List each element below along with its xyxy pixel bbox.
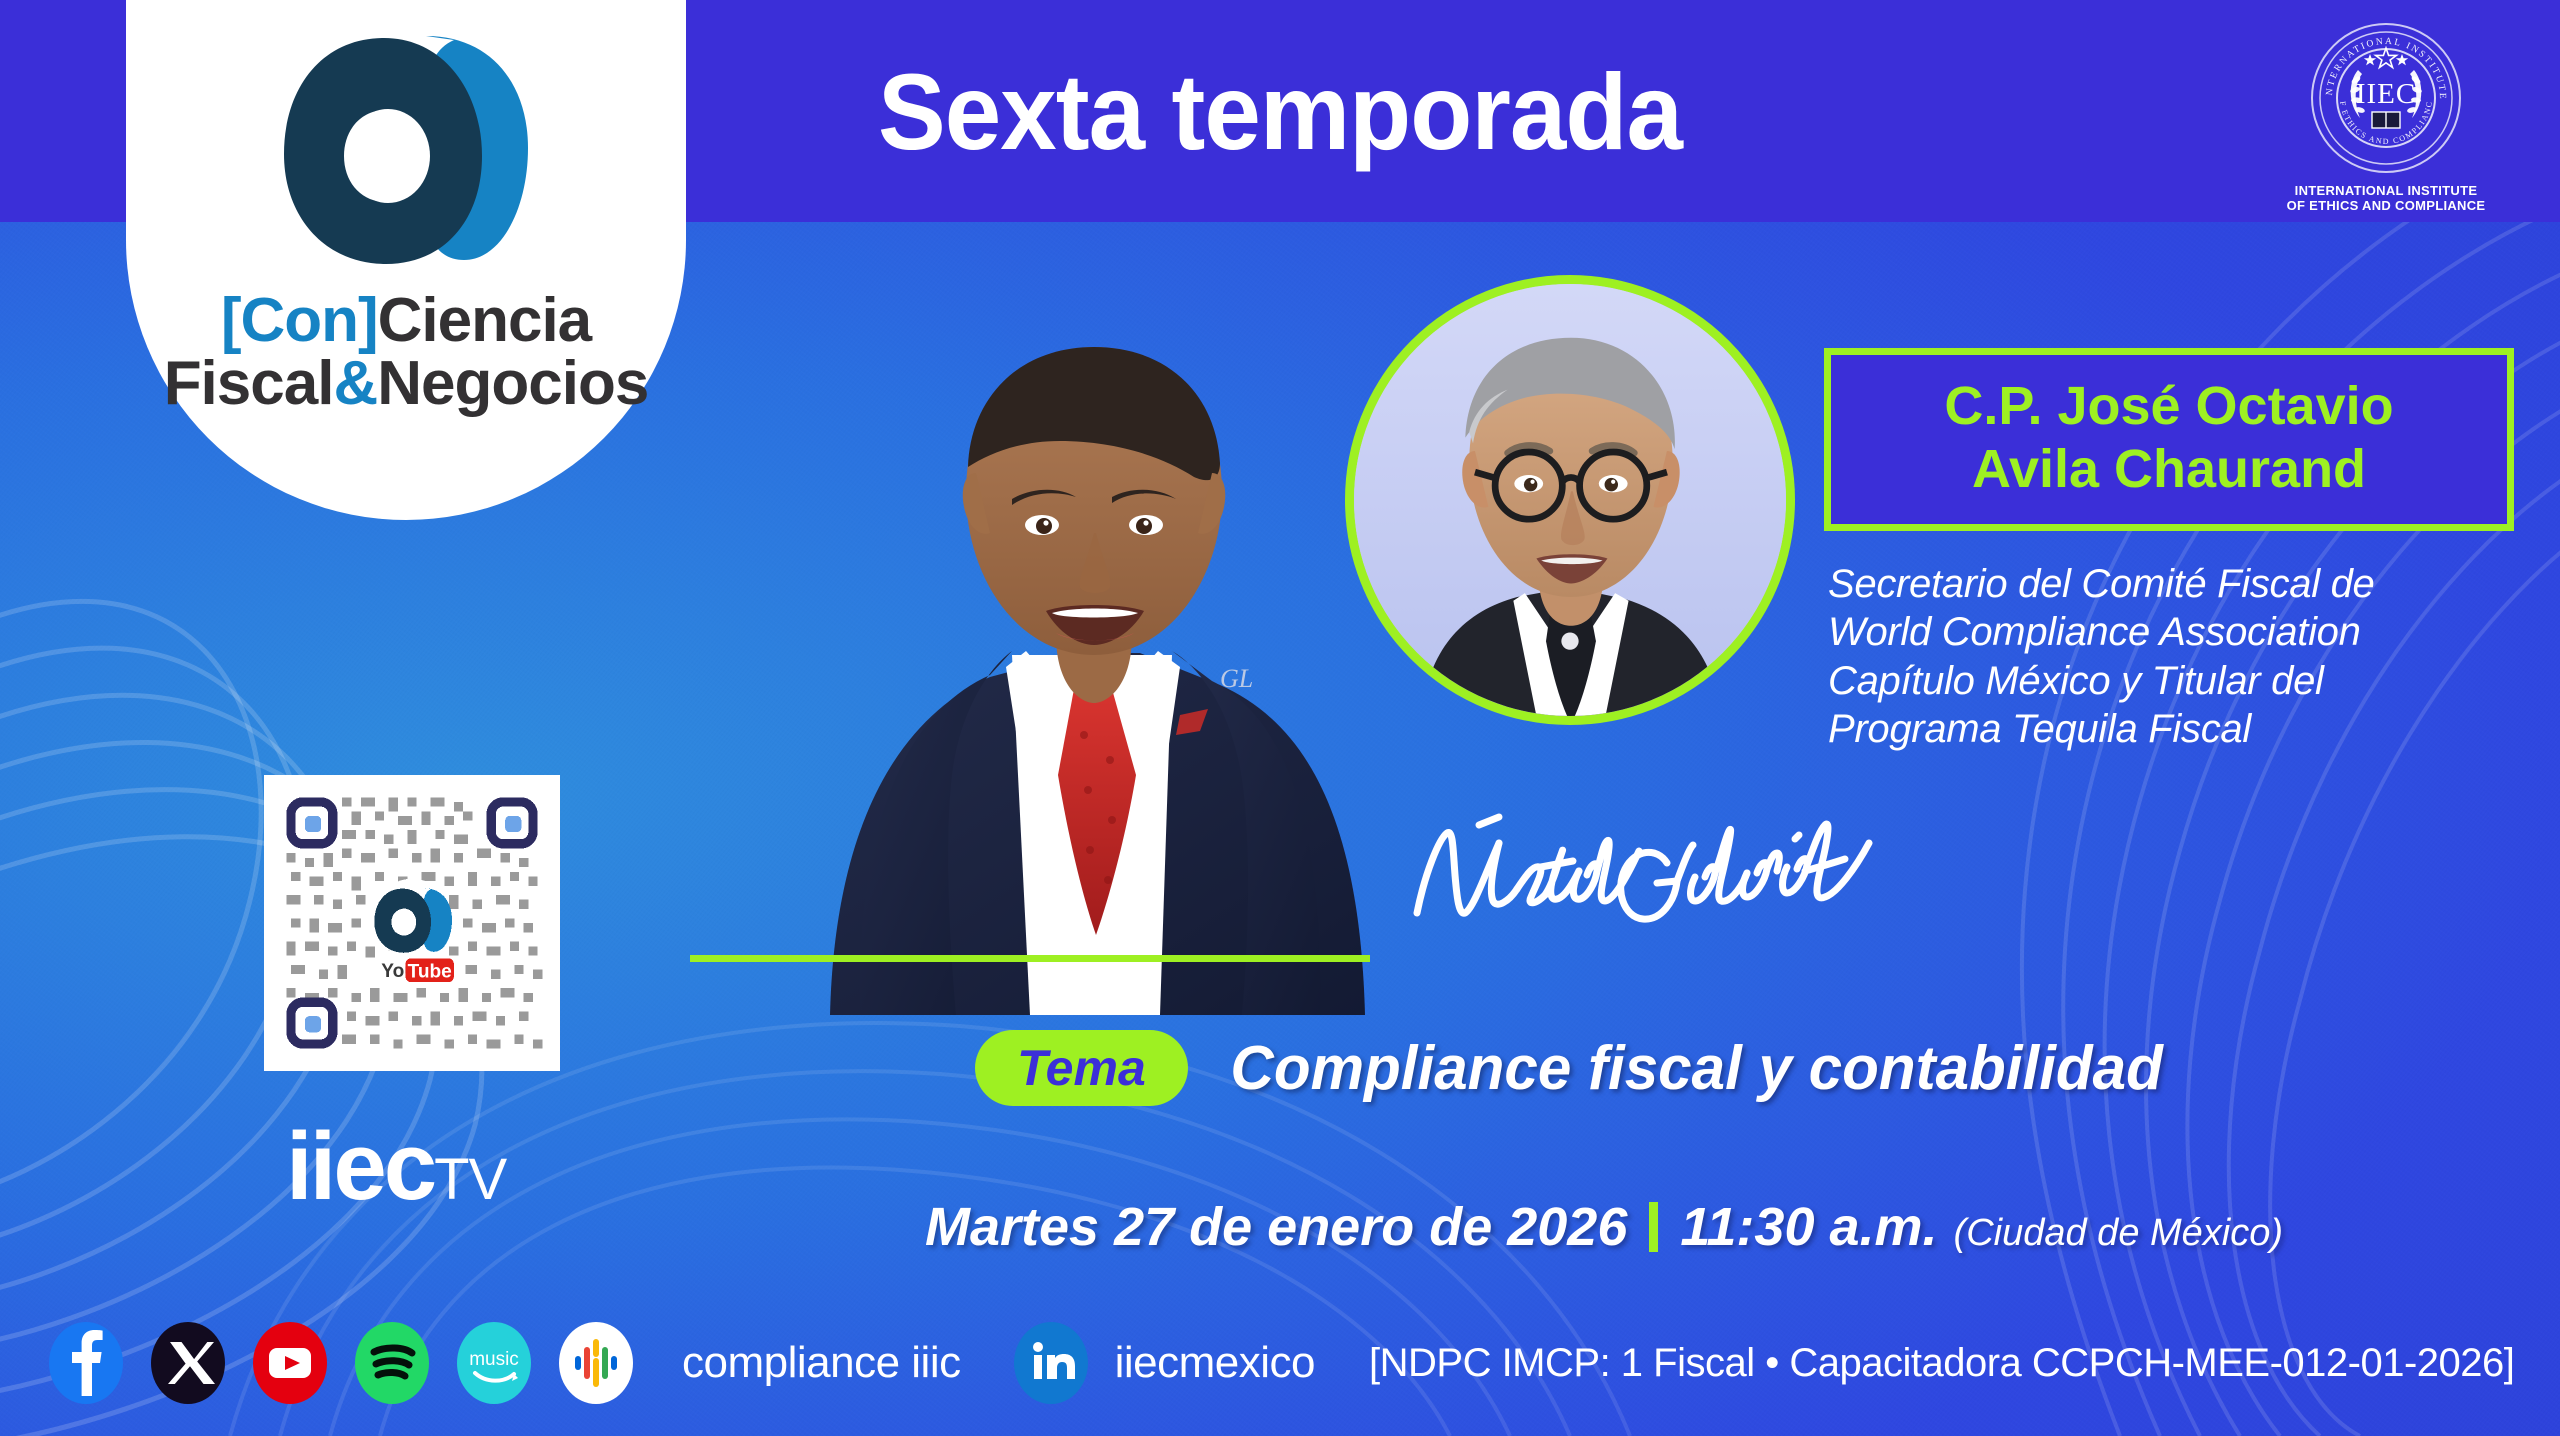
datetime-separator (1649, 1202, 1658, 1252)
amazon-music-icon[interactable]: music (456, 1321, 532, 1405)
brand-fiscal-text: Fiscal (164, 349, 334, 418)
event-date: Martes 27 de enero de 2026 (925, 1196, 1627, 1258)
event-datetime: Martes 27 de enero de 2026 11:30 a.m. (C… (925, 1196, 2283, 1258)
guest-photo (1345, 275, 1795, 725)
qr-code[interactable]: You Tube (264, 775, 560, 1071)
iiectv-logo: iiecTV (286, 1112, 506, 1222)
topic-row: Tema Compliance fiscal y contabilidad (975, 1030, 2177, 1106)
event-time: 11:30 a.m. (1680, 1196, 1937, 1258)
speaker-name-box: C.P. José Octavio Avila Chaurand (1824, 348, 2514, 531)
svg-text:IIEC: IIEC (2356, 78, 2416, 110)
brand-ciencia-text: Ciencia (378, 286, 592, 355)
credentials-line-2: World Compliance Association (1828, 608, 2528, 656)
svg-text:music: music (469, 1349, 519, 1370)
seal-caption-line-2: OF ETHICS AND COMPLIANCE (2286, 198, 2486, 213)
speaker-credentials: Secretario del Comité Fiscal de World Co… (1828, 560, 2528, 754)
brand-logo-line-1: [Con]Ciencia (221, 289, 591, 352)
x-twitter-icon[interactable] (150, 1321, 226, 1405)
guest-portrait-icon (1354, 284, 1786, 716)
promo-poster: Sexta temporada [Con]Ciencia Fiscal&Nego… (0, 0, 2560, 1436)
brand-ampersand: & (333, 349, 377, 418)
legal-accreditation-text: [NDPC IMCP: 1 Fiscal • Capacitadora CCPC… (1369, 1341, 2514, 1386)
section-divider-line (690, 955, 1370, 962)
speaker-name-line-2: Avila Chaurand (1841, 438, 2497, 501)
footer-bar: music compliance iiic iiecmexico [NDPC I… (0, 1290, 2560, 1436)
iiec-seal: INTERNATIONAL INSTITUTE OF ETHICS AND CO… (2286, 18, 2486, 214)
svg-text:GL: GL (1220, 664, 1253, 693)
credentials-line-4: Programa Tequila Fiscal (1828, 705, 2528, 753)
host-signature (1395, 805, 1895, 945)
seal-caption-line-1: INTERNATIONAL INSTITUTE (2286, 183, 2486, 198)
brand-bracket-text: [Con] (221, 286, 378, 355)
handle-general[interactable]: compliance iiic (682, 1338, 961, 1388)
credentials-line-3: Capítulo México y Titular del (1828, 657, 2528, 705)
speaker-name-line-1: C.P. José Octavio (1841, 375, 2497, 438)
linkedin-icon[interactable] (1013, 1321, 1089, 1405)
host-photo: GL (660, 215, 1400, 1015)
brand-logo-card: [Con]Ciencia Fiscal&Negocios (126, 0, 686, 520)
google-podcasts-icon[interactable] (558, 1321, 634, 1405)
iiec-seal-icon: INTERNATIONAL INSTITUTE OF ETHICS AND CO… (2306, 18, 2466, 178)
youtube-icon[interactable] (252, 1321, 328, 1405)
credentials-line-1: Secretario del Comité Fiscal de (1828, 560, 2528, 608)
iiectv-suffix-text: TV (434, 1147, 506, 1212)
handle-linkedin[interactable]: iiecmexico (1115, 1338, 1315, 1388)
host-signature-icon (1395, 805, 1895, 945)
topic-label-badge: Tema (975, 1030, 1188, 1106)
facebook-icon[interactable] (48, 1321, 124, 1405)
spotify-icon[interactable] (354, 1321, 430, 1405)
iiec-seal-caption: INTERNATIONAL INSTITUTE OF ETHICS AND CO… (2286, 183, 2486, 214)
svg-text:Tube: Tube (408, 961, 452, 982)
brand-negocios-text: Negocios (377, 349, 648, 418)
iiectv-main-text: iiec (286, 1113, 434, 1220)
qr-code-image[interactable]: You Tube (277, 788, 547, 1058)
brand-logo-line-2: Fiscal&Negocios (164, 352, 649, 415)
event-timezone: (Ciudad de México) (1954, 1212, 2283, 1255)
topic-title: Compliance fiscal y contabilidad (1230, 1033, 2162, 1104)
conciencia-a-logo-icon (276, 32, 536, 267)
